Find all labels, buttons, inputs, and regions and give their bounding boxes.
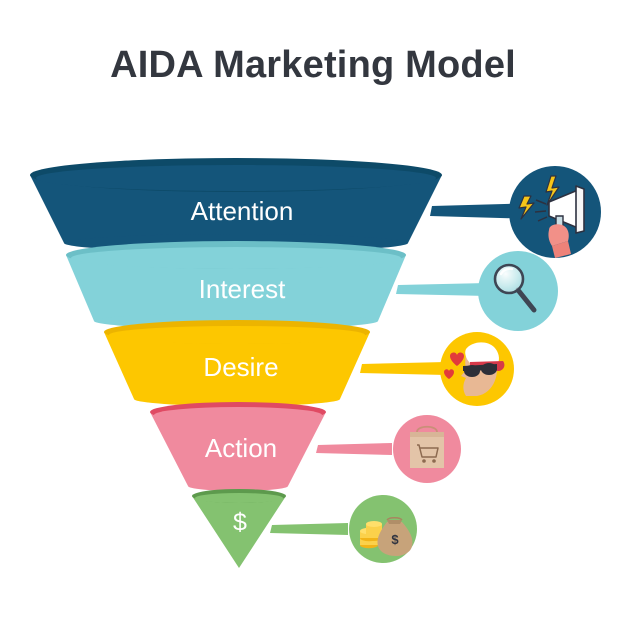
aida-funnel-infographic: AIDA Marketing Model Attention	[0, 0, 626, 626]
money-rim-inner	[195, 493, 283, 503]
icon-circle-money[interactable]: $	[349, 495, 417, 563]
connector-desire	[360, 362, 446, 375]
icon-circle-attention[interactable]	[509, 166, 601, 258]
stage-label-action: Action	[205, 433, 277, 463]
svg-text:$: $	[391, 532, 399, 547]
icon-circle-action[interactable]	[393, 415, 461, 483]
connector-action	[316, 443, 392, 455]
stage-label-interest: Interest	[199, 274, 286, 304]
connector-interest	[396, 283, 488, 296]
stage-label-attention: Attention	[191, 196, 294, 226]
action-rim-inner	[154, 407, 322, 423]
icon-circle-desire[interactable]	[440, 332, 514, 406]
shopping-bag-icon	[410, 427, 444, 468]
desire-rim-inner	[109, 326, 365, 344]
interest-rim-inner	[71, 247, 401, 269]
funnel-stage-action[interactable]: Action	[150, 402, 392, 491]
stage-label-desire: Desire	[203, 352, 278, 382]
icon-circle-interest[interactable]	[478, 251, 558, 331]
funnel-stage-money[interactable]: $	[192, 489, 348, 568]
funnel-diagram: Attention	[0, 0, 626, 626]
funnel-stage-attention[interactable]: Attention	[30, 158, 538, 252]
funnel-stage-interest[interactable]: Interest	[66, 241, 488, 329]
attention-rim-inner	[36, 165, 436, 191]
funnel-stage-desire[interactable]: Desire	[104, 320, 446, 406]
stage-label-money: $	[233, 509, 247, 537]
connector-money	[270, 523, 348, 535]
